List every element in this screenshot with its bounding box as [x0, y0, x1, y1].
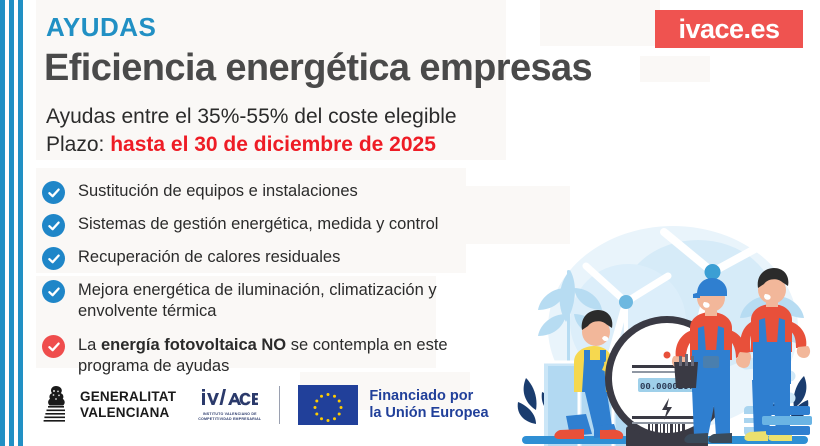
ivace-mark: [198, 389, 261, 409]
warning-item: La energía fotovoltaica NO se contempla …: [42, 334, 512, 377]
eu-funding-logo: Financiado por la Unión Europea: [298, 385, 488, 425]
energy-workers-illustration: 00.0000257: [508, 210, 820, 446]
list-item-label: Recuperación de calores residuales: [65, 246, 340, 268]
background-panel-5: [540, 0, 660, 46]
ivace-tagline-line-2: COMPETITIVIDAD EMPRESARIAL: [198, 417, 261, 422]
background-panel-7: [640, 56, 710, 82]
left-stripe-1: [0, 0, 5, 446]
ivace-wordmark-icon: [202, 389, 258, 406]
page-title: Eficiencia energética empresas: [44, 47, 592, 90]
ivace-tagline-line-1: INSTITUTO VALENCIANO DE: [198, 412, 261, 417]
ivace-tagline: INSTITUTO VALENCIANO DE COMPETITIVIDAD E…: [198, 412, 261, 422]
subtitle-deadline: Plazo: hasta el 30 de diciembre de 2025: [46, 133, 436, 157]
left-stripe-3: [18, 0, 23, 446]
list-item-label: Sustitución de equipos e instalaciones: [65, 180, 358, 202]
subtitle-amount: Ayudas entre el 35%-55% del coste elegib…: [46, 105, 457, 129]
left-stripe-2: [9, 0, 14, 446]
kicker-label: AYUDAS: [46, 12, 156, 43]
ivace-institutional-logo: INSTITUTO VALENCIANO DE COMPETITIVIDAD E…: [198, 389, 261, 422]
footer-logos: GENERALITAT VALENCIANA: [42, 385, 489, 425]
ivace-logo-text: ivace.es: [678, 16, 779, 43]
check-circle-icon: [42, 280, 65, 303]
list-item-label: Mejora energética de iluminación, climat…: [65, 279, 512, 322]
list-item: Sistemas de gestión energética, medida y…: [42, 213, 512, 237]
deadline-prefix: Plazo:: [46, 133, 110, 156]
warning-prefix: La: [78, 336, 101, 354]
deadline-date: hasta el 30 de diciembre de 2025: [110, 133, 436, 156]
eu-funding-text: Financiado por la Unión Europea: [369, 388, 488, 422]
generalitat-line-2: VALENCIANA: [80, 405, 176, 421]
list-item: Sustitución de equipos e instalaciones: [42, 180, 512, 204]
list-item-label: Sistemas de gestión energética, medida y…: [65, 213, 438, 235]
eu-line-1: Financiado por: [369, 388, 488, 405]
warning-label: La energía fotovoltaica NO se contempla …: [65, 334, 512, 377]
generalitat-text: GENERALITAT VALENCIANA: [80, 389, 176, 421]
footer-divider: [279, 386, 280, 424]
generalitat-valenciana-logo: GENERALITAT VALENCIANA: [42, 385, 176, 425]
illustration-svg: 00.0000257: [508, 210, 820, 446]
list-item: Recuperación de calores residuales: [42, 246, 512, 270]
check-circle-icon: [42, 181, 65, 204]
benefits-list: Sustitución de equipos e instalaciones S…: [42, 180, 512, 386]
eu-line-2: la Unión Europea: [369, 405, 488, 422]
generalitat-shield-icon: [42, 385, 72, 425]
check-circle-icon: [42, 247, 65, 270]
list-item: Mejora energética de iluminación, climat…: [42, 279, 512, 322]
check-circle-icon: [42, 214, 65, 237]
ivace-logo-badge[interactable]: ivace.es: [655, 10, 803, 48]
eu-flag-icon: [298, 385, 358, 425]
poster-root: ivace.es AYUDAS Eficiencia energética em…: [0, 0, 820, 446]
generalitat-line-1: GENERALITAT: [80, 389, 176, 405]
check-circle-warning-icon: [42, 335, 65, 358]
warning-strong: energía fotovoltaica NO: [101, 336, 286, 354]
